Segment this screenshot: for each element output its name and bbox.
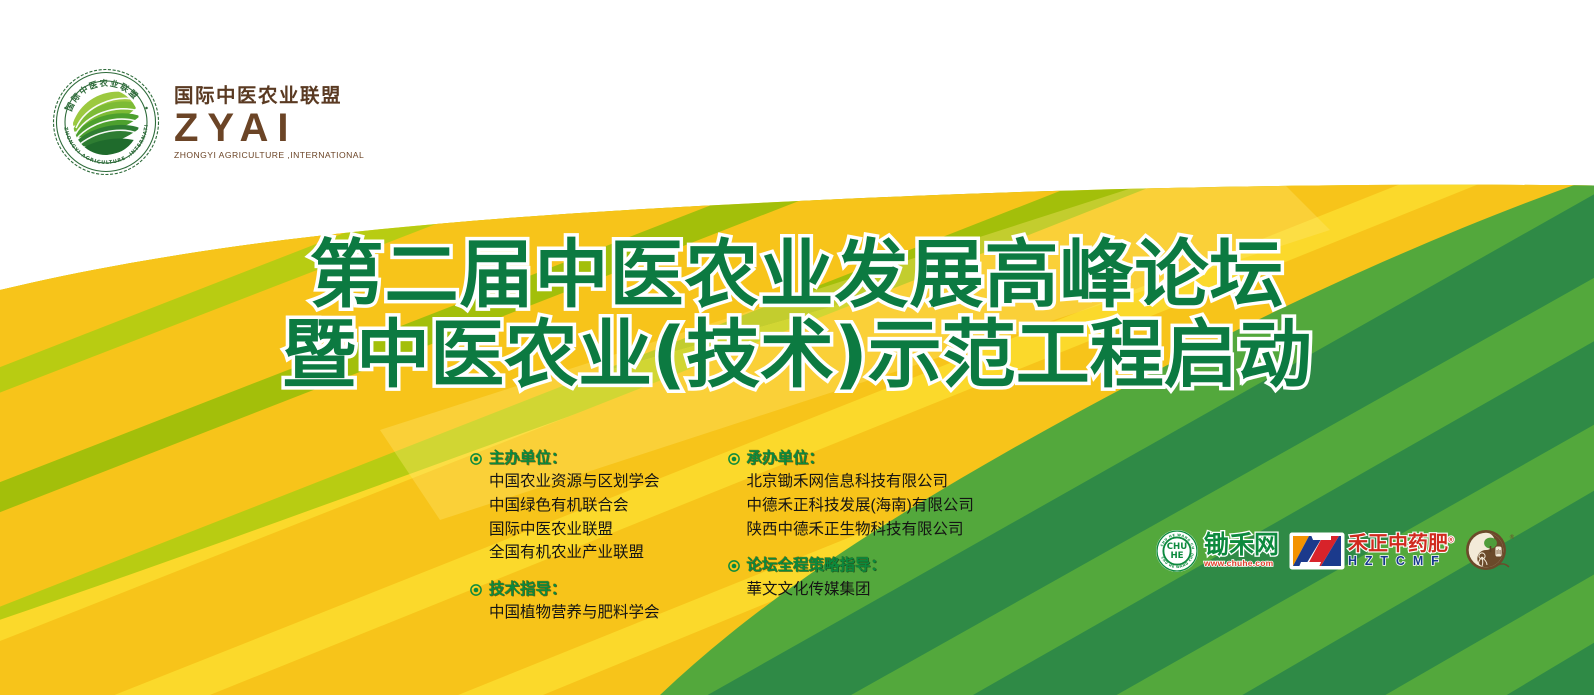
info-group-heading: 承办单位： bbox=[728, 448, 974, 470]
org-name-en: ZHONGYI AGRICULTURE ,INTERNATIONAL bbox=[174, 150, 364, 160]
info-column-left: 主办单位： 中国农业资源与区划学会 中国绿色有机联合会 国际中医农业联盟 全国有… bbox=[470, 448, 660, 625]
info-group-heading: 论坛全程策略指导： bbox=[728, 555, 974, 577]
info-group-host: 主办单位： 中国农业资源与区划学会 中国绿色有机联合会 国际中医农业联盟 全国有… bbox=[470, 448, 660, 565]
org-logo: 国际中医农业联盟 ZHONGYI AGRICULTURE ,INTERNATIO… bbox=[52, 68, 364, 176]
org-name-cn: 国际中医农业联盟 bbox=[174, 86, 364, 106]
info-item: 国际中医农业联盟 bbox=[470, 518, 660, 542]
svg-text:HE: HE bbox=[1170, 551, 1183, 561]
hztcmf-name-cn-text: 禾正中药肥 bbox=[1348, 533, 1448, 555]
svg-text:自: 自 bbox=[1496, 548, 1502, 556]
hztcmf-name-cn: 禾正中药肥® bbox=[1348, 534, 1454, 554]
ring-bullet-icon bbox=[470, 453, 482, 465]
sponsor-logo-chuhe: CHU HE CHU HE WANG CHU HE CHU HE WANG CH… bbox=[1155, 529, 1279, 573]
info-group-organizer: 承办单位： 北京锄禾网信息科技有限公司 中德禾正科技发展(海南)有限公司 陕西中… bbox=[728, 448, 974, 541]
ring-bullet-icon bbox=[470, 584, 482, 596]
info-item: 陕西中德禾正生物科技有限公司 bbox=[728, 518, 974, 542]
banner-canvas: 国际中医农业联盟 ZHONGYI AGRICULTURE ,INTERNATIO… bbox=[0, 0, 1594, 695]
info-heading-label: 主办单位： bbox=[489, 448, 567, 470]
ring-bullet-icon bbox=[728, 560, 740, 572]
info-column-right: 承办单位： 北京锄禾网信息科技有限公司 中德禾正科技发展(海南)有限公司 陕西中… bbox=[728, 448, 974, 625]
chuhe-seal-icon: CHU HE CHU HE WANG CHU HE CHU HE WANG CH… bbox=[1155, 529, 1199, 573]
info-item: 全国有机农业产业联盟 bbox=[470, 541, 660, 565]
info-item: 北京锄禾网信息科技有限公司 bbox=[728, 470, 974, 494]
info-item: 華文文化传媒集团 bbox=[728, 578, 974, 602]
info-group-heading: 主办单位： bbox=[470, 448, 660, 470]
info-group-technical-guidance: 技术指导： 中国植物营养与肥料学会 bbox=[470, 579, 660, 625]
hztcmf-z-mark-icon bbox=[1289, 531, 1345, 571]
sponsor-logo-hztcmf: 禾正中药肥® H Z T C M F bbox=[1289, 531, 1454, 571]
sponsor-logo-tree-seal: 自 ® bbox=[1464, 528, 1514, 574]
org-logo-text: 国际中医农业联盟 ZYAI ZHONGYI AGRICULTURE ,INTER… bbox=[174, 84, 364, 159]
hztcmf-wordmark: 禾正中药肥® H Z T C M F bbox=[1348, 534, 1454, 568]
info-heading-label: 承办单位： bbox=[747, 448, 825, 470]
info-group-strategy-guidance: 论坛全程策略指导： 華文文化传媒集团 bbox=[728, 555, 974, 601]
info-group-heading: 技术指导： bbox=[470, 579, 660, 601]
info-item: 中德禾正科技发展(海南)有限公司 bbox=[728, 494, 974, 518]
org-abbreviation: ZYAI bbox=[174, 108, 364, 148]
sponsor-logo-row: CHU HE CHU HE WANG CHU HE CHU HE WANG CH… bbox=[1155, 528, 1514, 574]
info-item: 中国绿色有机联合会 bbox=[470, 494, 660, 518]
info-item: 中国农业资源与区划学会 bbox=[470, 470, 660, 494]
trademark-mark: ® bbox=[1509, 534, 1514, 541]
chuhe-wordmark: 锄禾网 www.chuhe.com bbox=[1204, 534, 1279, 568]
hztcmf-name-en: H Z T C M F bbox=[1348, 555, 1441, 568]
info-heading-label: 论坛全程策略指导： bbox=[747, 555, 887, 577]
tree-yinyang-seal-icon: 自 ® bbox=[1464, 528, 1514, 574]
ring-bullet-icon bbox=[728, 453, 740, 465]
info-heading-label: 技术指导： bbox=[489, 579, 567, 601]
chuhe-name-cn: 锄禾网 bbox=[1204, 534, 1279, 558]
info-item: 中国植物营养与肥料学会 bbox=[470, 601, 660, 625]
organizer-info: 主办单位： 中国农业资源与区划学会 中国绿色有机联合会 国际中医农业联盟 全国有… bbox=[470, 448, 974, 625]
trademark-mark: ® bbox=[1448, 536, 1454, 545]
zyai-seal-icon: 国际中医农业联盟 ZHONGYI AGRICULTURE ,INTERNATIO… bbox=[52, 68, 160, 176]
chuhe-url: www.chuhe.com bbox=[1204, 559, 1273, 568]
